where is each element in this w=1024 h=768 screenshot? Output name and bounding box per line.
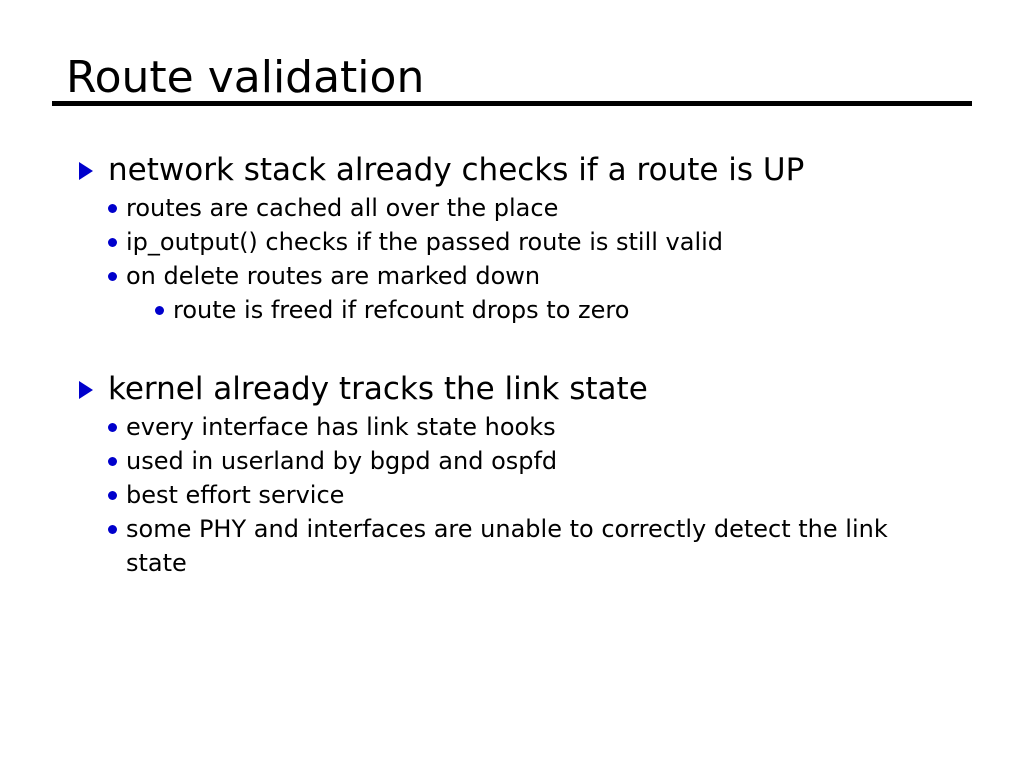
list-item-label: every interface has link state hooks <box>126 410 1024 444</box>
dot-icon <box>108 457 117 466</box>
dot-icon <box>108 204 117 213</box>
list-item: best effort service <box>0 478 1024 512</box>
list-item-label: network stack already checks if a route … <box>108 150 1024 191</box>
bullet-group: kernel already tracks the link state eve… <box>0 369 1024 580</box>
sub-bullet-list: every interface has link state hooks use… <box>0 410 1024 580</box>
list-item-label: kernel already tracks the link state <box>108 369 1024 410</box>
list-item-label: best effort service <box>126 478 1024 512</box>
bullet-list: kernel already tracks the link state <box>0 369 1024 410</box>
list-item: route is freed if refcount drops to zero <box>0 293 1024 327</box>
bullet-group: network stack already checks if a route … <box>0 150 1024 327</box>
dot-icon <box>108 525 117 534</box>
bullet-list: network stack already checks if a route … <box>0 150 1024 191</box>
dot-icon <box>108 491 117 500</box>
dot-icon <box>108 423 117 432</box>
sub-bullet-list: routes are cached all over the place ip_… <box>0 191 1024 327</box>
dot-icon <box>108 272 117 281</box>
list-item-label: route is freed if refcount drops to zero <box>173 293 1024 327</box>
dot-icon <box>155 306 164 315</box>
list-item: used in userland by bgpd and ospfd <box>0 444 1024 478</box>
list-item-label: some PHY and interfaces are unable to co… <box>126 512 909 580</box>
triangle-right-icon <box>79 381 93 399</box>
slide: Route validation network stack already c… <box>0 0 1024 768</box>
list-item: routes are cached all over the place <box>0 191 1024 225</box>
list-item-label: used in userland by bgpd and ospfd <box>126 444 1024 478</box>
list-item: some PHY and interfaces are unable to co… <box>0 512 1024 580</box>
list-item-label: routes are cached all over the place <box>126 191 1024 225</box>
title-divider <box>52 101 972 106</box>
list-item: on delete routes are marked down <box>0 259 1024 293</box>
list-item-label: ip_output() checks if the passed route i… <box>126 225 1024 259</box>
dot-icon <box>108 238 117 247</box>
list-item: network stack already checks if a route … <box>0 150 1024 191</box>
triangle-right-icon <box>79 162 93 180</box>
list-item: kernel already tracks the link state <box>0 369 1024 410</box>
list-item-label: on delete routes are marked down <box>126 259 1024 293</box>
page-title: Route validation <box>66 52 424 104</box>
list-item: every interface has link state hooks <box>0 410 1024 444</box>
slide-body: network stack already checks if a route … <box>0 150 1024 580</box>
list-item: ip_output() checks if the passed route i… <box>0 225 1024 259</box>
